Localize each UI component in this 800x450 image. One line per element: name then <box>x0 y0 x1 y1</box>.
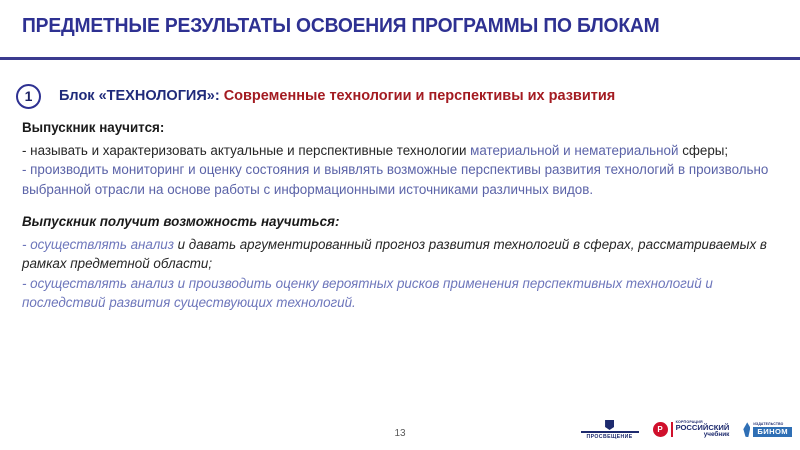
slide-canvas: ПРЕДМЕТНЫЕ РЕЗУЛЬТАТЫ ОСВОЕНИЯ ПРОГРАММЫ… <box>0 0 800 450</box>
rossiyskiy-uchebnik-roundel-icon: Р <box>653 422 668 437</box>
opportunity-item-2: - осуществлять анализ и производить оцен… <box>22 274 782 313</box>
rossiyskiy-uchebnik-bar <box>671 422 673 437</box>
block-heading-text: Блок «ТЕХНОЛОГИЯ»: Современные технологи… <box>59 88 615 104</box>
prosveshchenie-logo: ПРОСВЕЩЕНИЕ <box>581 420 639 440</box>
opportunity-item-2-line-1: - осуществлять анализ и производить оцен… <box>22 276 713 291</box>
binom-name: БИНОМ <box>753 427 792 437</box>
opportunity-heading: Выпускник получит возможность научиться: <box>22 212 782 232</box>
block-number-badge: 1 <box>16 84 41 109</box>
binom-logo: ИЗДАТЕЛЬСТВО БИНОМ <box>743 422 792 437</box>
binom-feather-icon <box>743 422 750 437</box>
opportunity-item-1-highlight: осуществлять анализ <box>30 237 174 252</box>
opportunity-item-1: - осуществлять анализ и давать аргументи… <box>22 235 782 274</box>
will-learn-item-1: - называть и характеризовать актуальные … <box>22 141 782 161</box>
prosveshchenie-wordmark: ПРОСВЕЩЕНИЕ <box>586 435 632 440</box>
binom-wordmark: ИЗДАТЕЛЬСТВО БИНОМ <box>753 423 792 437</box>
body-content: Выпускник научится: - называть и характе… <box>22 118 782 313</box>
block-label: Блок «ТЕХНОЛОГИЯ»: <box>59 88 220 104</box>
logo-strip: ПРОСВЕЩЕНИЕ Р КОРПОРАЦИЯ РОССИЙСКИЙ учеб… <box>581 420 792 440</box>
will-learn-item-2: - производить мониторинг и оценку состоя… <box>22 160 782 199</box>
section-spacer <box>22 199 782 212</box>
will-learn-item-2-line-1: - производить мониторинг и оценку состоя… <box>22 162 685 177</box>
title-divider <box>0 57 800 60</box>
rossiyskiy-uchebnik-line-2: учебник <box>676 432 730 439</box>
opportunity-item-1-prefix: - <box>22 237 30 252</box>
block-heading: 1 Блок «ТЕХНОЛОГИЯ»: Современные техноло… <box>16 81 615 111</box>
block-subject: Современные технологии и перспективы их … <box>224 88 616 104</box>
opportunity-item-2-line-2: последствий развития существующих технол… <box>22 295 356 310</box>
opportunity-item-1-body: и давать аргументированный прогноз разви… <box>174 237 756 252</box>
will-learn-item-1-highlight: материальной и нематериальной <box>470 143 678 158</box>
page-title: ПРЕДМЕТНЫЕ РЕЗУЛЬТАТЫ ОСВОЕНИЯ ПРОГРАММЫ… <box>22 14 733 38</box>
prosveshchenie-rule <box>581 431 639 433</box>
will-learn-heading: Выпускник научится: <box>22 118 782 138</box>
will-learn-item-1-suffix: сферы; <box>678 143 728 158</box>
rossiyskiy-uchebnik-logo: Р КОРПОРАЦИЯ РОССИЙСКИЙ учебник <box>653 421 730 439</box>
prosveshchenie-mark-icon <box>605 420 614 430</box>
rossiyskiy-uchebnik-wordmark: КОРПОРАЦИЯ РОССИЙСКИЙ учебник <box>676 421 730 439</box>
will-learn-item-1-prefix: - называть и характеризовать актуальные … <box>22 143 470 158</box>
